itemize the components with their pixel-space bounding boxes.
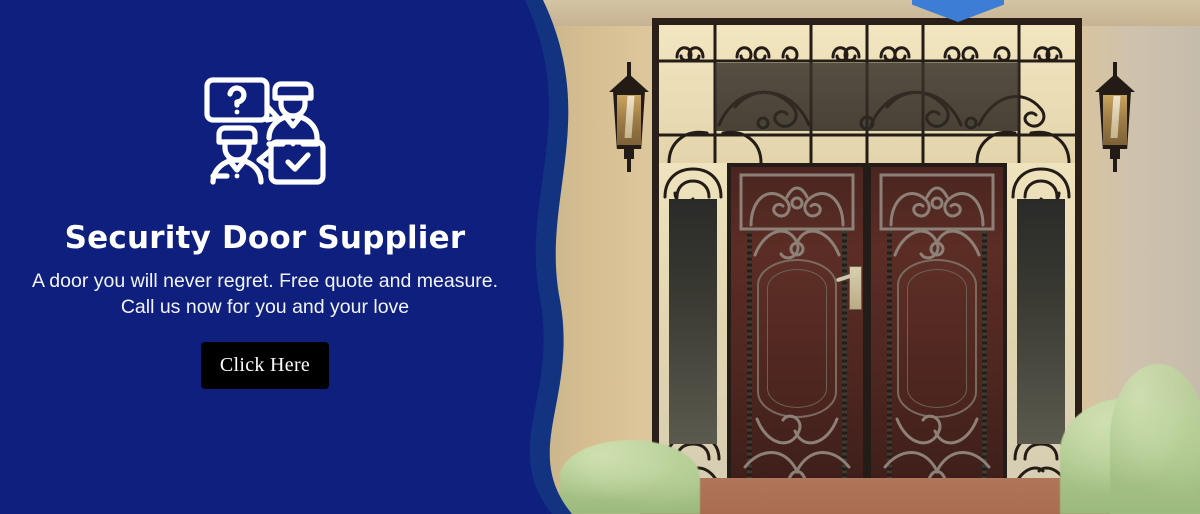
right-lantern-finial — [1113, 158, 1117, 172]
banner-subheading: A door you will never regret. Free quote… — [32, 268, 498, 320]
promo-banner: Security Door Supplier A door you will n… — [0, 0, 1200, 514]
terracotta-threshold — [640, 478, 1110, 514]
click-here-button[interactable]: Click Here — [201, 342, 329, 389]
iron-door-frame — [652, 18, 1082, 496]
right-lantern — [1092, 62, 1138, 180]
page-title: Security Door Supplier — [65, 220, 466, 256]
customer-support-qa-icon — [203, 66, 327, 190]
door-lock-plate — [849, 266, 862, 310]
subheading-line-1: A door you will never regret. Free quote… — [32, 268, 498, 294]
subheading-line-2: Call us now for you and your love — [32, 294, 498, 320]
right-lantern-cap — [1095, 74, 1135, 92]
shrub-right-tall — [1110, 364, 1200, 514]
banner-content: Security Door Supplier A door you will n… — [0, 0, 530, 514]
left-lantern-finial — [627, 158, 631, 172]
